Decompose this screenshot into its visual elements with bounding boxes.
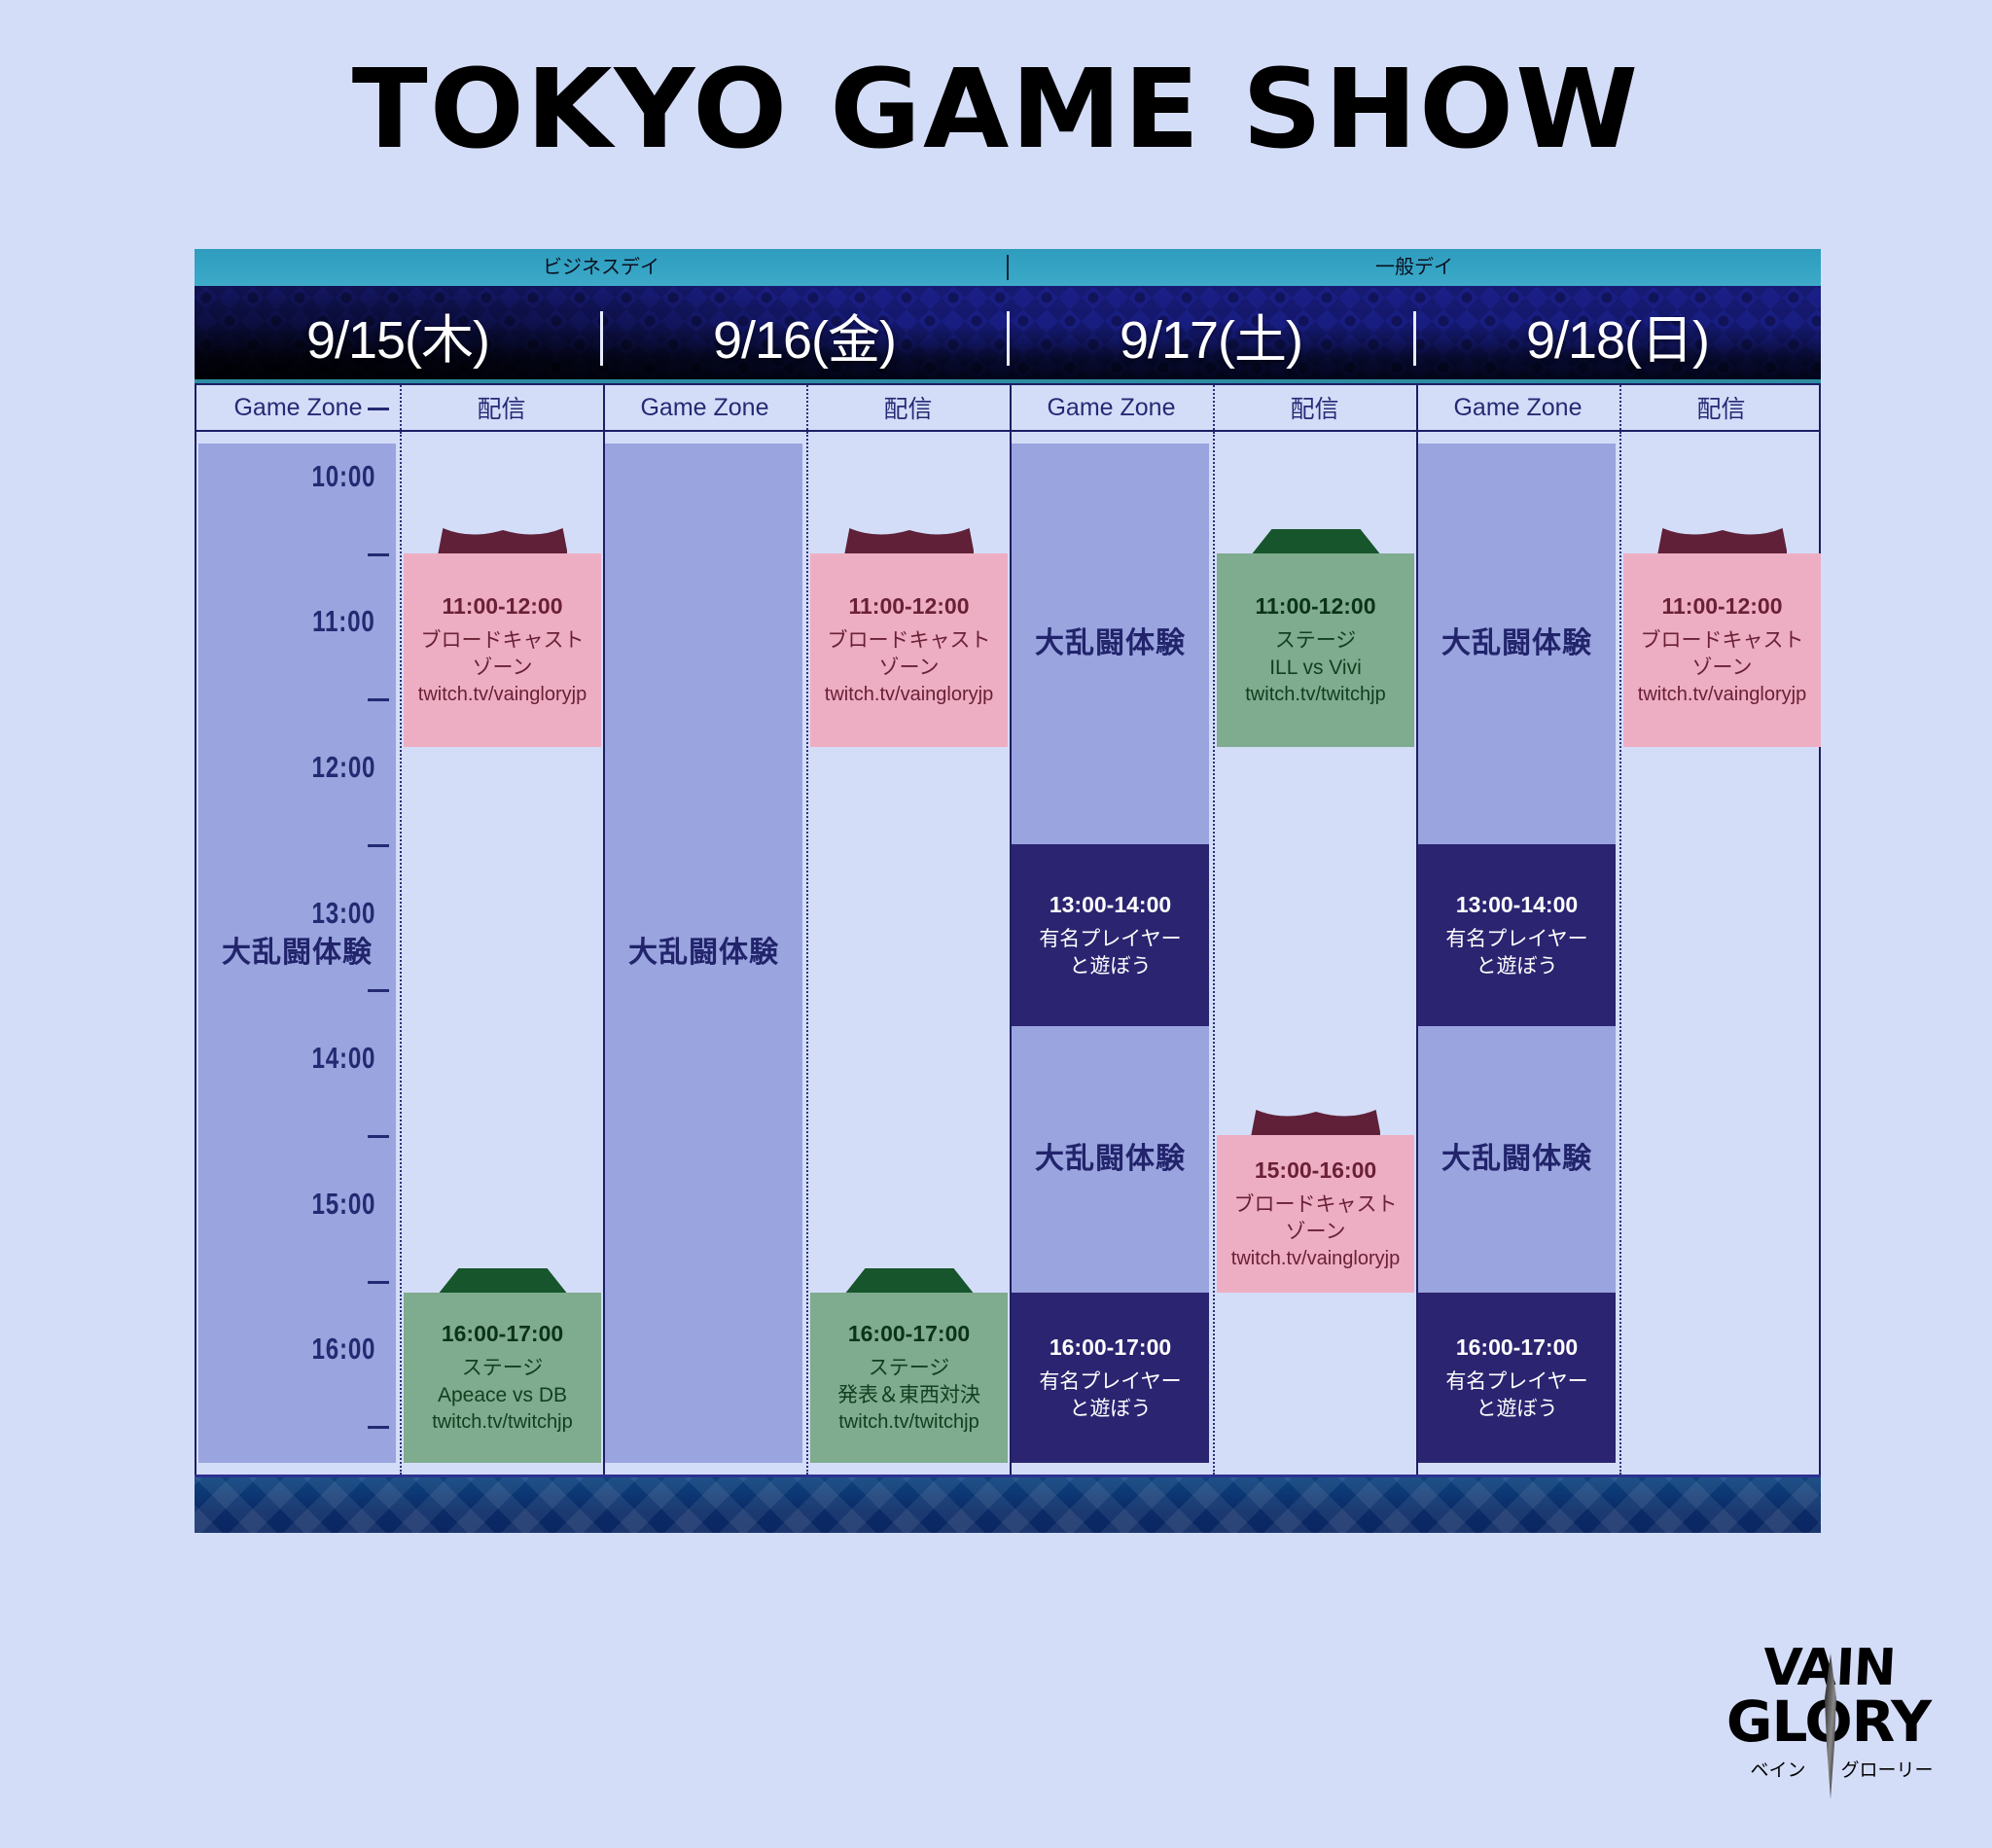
event-body: 16:00-17:00ステージ発表＆東西対決twitch.tv/twitchjp [810, 1293, 1008, 1463]
event-body: 11:00-12:00ステージILL vs Vivitwitch.tv/twit… [1217, 553, 1414, 747]
footer-band [195, 1475, 1821, 1533]
event-time: 11:00-12:00 [442, 591, 562, 622]
time-axis: 10:0011:0012:0013:0014:0015:0016:00 [195, 249, 389, 1533]
event-body: 13:00-14:00有名プレイヤーと遊ぼう [1418, 844, 1616, 1026]
event-detail-line-1: 発表＆東西対決 [837, 1382, 980, 1409]
event-title: 大乱闘体験 [1441, 1140, 1592, 1179]
event-block-d4-gz-1[interactable]: 大乱闘体験 [1418, 444, 1616, 843]
column-divider-1 [400, 385, 402, 430]
event-detail-line-0: ステージ [869, 1355, 950, 1382]
vainglory-logo: VAIN GLORY ベイン グローリー [1710, 1640, 1953, 1813]
column-divider-5 [1213, 385, 1215, 430]
event-block-d4-gz-2[interactable]: 13:00-14:00有名プレイヤーと遊ぼう [1418, 844, 1616, 1026]
time-tick-1 [368, 698, 389, 701]
event-time: 11:00-12:00 [1661, 591, 1782, 622]
event-body: 大乱闘体験 [1418, 444, 1616, 843]
event-stream-url[interactable]: twitch.tv/vaingloryjp [825, 682, 993, 708]
grid-vline-5 [1213, 432, 1215, 1475]
event-title: 大乱闘体験 [1035, 1140, 1186, 1179]
broadcast-banner-icon [1657, 526, 1788, 555]
event-block-d3-gz-2[interactable]: 13:00-14:00有名プレイヤーと遊ぼう [1012, 844, 1209, 1026]
event-block-d4-gz-3[interactable]: 大乱闘体験 [1418, 1026, 1616, 1293]
time-tick-2 [368, 844, 389, 847]
event-body: 13:00-14:00有名プレイヤーと遊ぼう [1012, 844, 1209, 1026]
date-header-day2: 9/16(金) [601, 286, 1008, 383]
event-detail-line-1: と遊ぼう [1070, 953, 1152, 980]
event-title: 大乱闘体験 [1035, 624, 1186, 663]
event-body: 大乱闘体験 [1012, 1026, 1209, 1293]
event-detail-line-1: ゾーン [1692, 655, 1753, 682]
event-time: 13:00-14:00 [1456, 890, 1578, 920]
column-header-game-zone-day4: Game Zone [1416, 385, 1619, 430]
event-detail-line-1: と遊ぼう [1070, 1396, 1152, 1423]
time-tick-top [368, 408, 389, 410]
event-block-d1-br-1[interactable]: 11:00-12:00ブロードキャストゾーンtwitch.tv/vainglor… [404, 553, 601, 747]
stage-roof-icon [1251, 526, 1381, 555]
event-block-d3-br-2[interactable]: 15:00-16:00ブロードキャストゾーンtwitch.tv/vainglor… [1217, 1135, 1414, 1293]
event-block-d3-gz-3[interactable]: 大乱闘体験 [1012, 1026, 1209, 1293]
event-detail-line-0: ブロードキャスト [828, 627, 991, 655]
column-divider-6 [1416, 385, 1418, 430]
event-body: 16:00-17:00有名プレイヤーと遊ぼう [1012, 1293, 1209, 1463]
event-detail-line-1: ゾーン [473, 655, 533, 682]
event-time: 16:00-17:00 [442, 1319, 563, 1349]
event-body: 16:00-17:00有名プレイヤーと遊ぼう [1418, 1293, 1616, 1463]
event-detail-line-0: 有名プレイヤー [1445, 926, 1587, 953]
event-body: 11:00-12:00ブロードキャストゾーンtwitch.tv/vainglor… [1623, 553, 1821, 747]
time-label-1600: 16:00 [311, 1332, 375, 1367]
broadcast-banner-icon [844, 526, 975, 555]
column-header-broadcast-day2: 配信 [806, 385, 1010, 430]
event-time: 15:00-16:00 [1255, 1155, 1376, 1186]
event-detail-line-0: ブロードキャスト [1641, 627, 1804, 655]
event-block-d3-gz-1[interactable]: 大乱闘体験 [1012, 444, 1209, 843]
grid-vline-1 [400, 432, 402, 1475]
event-time: 16:00-17:00 [1456, 1333, 1578, 1363]
event-stream-url[interactable]: twitch.tv/vaingloryjp [418, 682, 587, 708]
day-type-general-label: 一般デイ [1008, 249, 1821, 286]
event-detail-line-0: 有名プレイヤー [1445, 1368, 1587, 1396]
time-label-1300: 13:00 [311, 896, 375, 931]
schedule-chart: ビジネスデイ 一般デイ 9/15(木) 9/16(金) 9/17(土) 9/18… [195, 249, 1821, 1533]
date-band: 9/15(木) 9/16(金) 9/17(土) 9/18(日) [195, 286, 1821, 383]
event-body: 11:00-12:00ブロードキャストゾーンtwitch.tv/vainglor… [810, 553, 1008, 747]
date-header-day3: 9/17(土) [1008, 286, 1414, 383]
grid-vline-3 [806, 432, 808, 1475]
event-body: 大乱闘体験 [605, 444, 802, 1462]
date-header-day4: 9/18(日) [1414, 286, 1821, 383]
column-header-game-zone-day3: Game Zone [1010, 385, 1213, 430]
event-block-d2-br-1[interactable]: 11:00-12:00ブロードキャストゾーンtwitch.tv/vainglor… [810, 553, 1008, 747]
stage-roof-icon [438, 1265, 568, 1295]
event-body: 15:00-16:00ブロードキャストゾーンtwitch.tv/vainglor… [1217, 1135, 1414, 1293]
event-body: 16:00-17:00ステージApeace vs DBtwitch.tv/twi… [404, 1293, 601, 1463]
event-block-d4-br-1[interactable]: 11:00-12:00ブロードキャストゾーンtwitch.tv/vainglor… [1623, 553, 1821, 747]
event-detail-line-1: と遊ぼう [1476, 953, 1558, 980]
footer-pattern [195, 1475, 1821, 1533]
schedule-grid: 大乱闘体験 11:00-12:00ブロードキャストゾーンtwitch.tv/va… [195, 432, 1821, 1475]
event-title: 大乱闘体験 [628, 934, 779, 973]
event-body: 11:00-12:00ブロードキャストゾーンtwitch.tv/vainglor… [404, 553, 601, 747]
event-detail-line-1: ゾーン [879, 655, 940, 682]
event-block-d3-br-1[interactable]: 11:00-12:00ステージILL vs Vivitwitch.tv/twit… [1217, 553, 1414, 747]
event-body: 大乱闘体験 [1418, 1026, 1616, 1293]
event-stream-url[interactable]: twitch.tv/vaingloryjp [1638, 682, 1806, 708]
column-header-broadcast-day4: 配信 [1619, 385, 1823, 430]
broadcast-banner-icon [438, 526, 568, 555]
day-type-band: ビジネスデイ 一般デイ [195, 249, 1821, 286]
column-header-broadcast-day3: 配信 [1213, 385, 1416, 430]
event-detail-line-0: ステージ [462, 1355, 544, 1382]
event-stream-url[interactable]: twitch.tv/vaingloryjp [1231, 1246, 1400, 1272]
time-label-1000: 10:00 [311, 459, 375, 494]
event-detail-line-0: 有名プレイヤー [1039, 926, 1181, 953]
time-tick-4 [368, 1135, 389, 1138]
event-block-d2-br-2[interactable]: 16:00-17:00ステージ発表＆東西対決twitch.tv/twitchjp [810, 1293, 1008, 1463]
time-label-1500: 15:00 [311, 1187, 375, 1222]
column-header-broadcast-day1: 配信 [400, 385, 603, 430]
column-divider-3 [806, 385, 808, 430]
event-detail-line-0: 有名プレイヤー [1039, 1368, 1181, 1396]
event-time: 11:00-12:00 [1255, 591, 1375, 622]
logo-subtitle-right-text: グローリー [1840, 1759, 1933, 1781]
event-block-d4-gz-4[interactable]: 16:00-17:00有名プレイヤーと遊ぼう [1418, 1293, 1616, 1463]
event-detail-line-1: ILL vs Vivi [1269, 655, 1362, 682]
column-header-row: Game Zone配信Game Zone配信Game Zone配信Game Zo… [195, 383, 1821, 432]
time-label-1100: 11:00 [313, 604, 375, 639]
time-tick-6 [368, 1426, 389, 1429]
event-time: 13:00-14:00 [1049, 890, 1171, 920]
event-detail-line-1: Apeace vs DB [438, 1382, 567, 1409]
time-tick-0 [368, 553, 389, 556]
column-header-game-zone-day2: Game Zone [603, 385, 806, 430]
time-tick-3 [368, 989, 389, 992]
event-detail-line-0: ステージ [1275, 627, 1357, 655]
event-time: 16:00-17:00 [1049, 1333, 1171, 1363]
time-label-1400: 14:00 [311, 1041, 375, 1076]
logo-subtitle-left-text: ベイン [1750, 1759, 1805, 1781]
event-block-d1-br-2[interactable]: 16:00-17:00ステージApeace vs DBtwitch.tv/twi… [404, 1293, 601, 1463]
event-stream-url[interactable]: twitch.tv/twitchjp [838, 1409, 978, 1436]
event-detail-line-1: と遊ぼう [1476, 1396, 1558, 1423]
event-body: 大乱闘体験 [1012, 444, 1209, 843]
column-divider-7 [1619, 385, 1621, 430]
event-block-d2-gz-1[interactable]: 大乱闘体験 [605, 444, 802, 1462]
event-time: 11:00-12:00 [848, 591, 969, 622]
event-block-d3-gz-4[interactable]: 16:00-17:00有名プレイヤーと遊ぼう [1012, 1293, 1209, 1463]
page-title: TOKYO GAME SHOW [0, 47, 1992, 173]
event-title: 大乱闘体験 [1441, 624, 1592, 663]
stage-roof-icon [844, 1265, 975, 1295]
event-time: 16:00-17:00 [848, 1319, 970, 1349]
time-label-1200: 12:00 [311, 750, 375, 785]
event-detail-line-1: ゾーン [1286, 1219, 1346, 1246]
event-detail-line-0: ブロードキャスト [421, 627, 585, 655]
broadcast-banner-icon [1251, 1108, 1381, 1137]
time-tick-5 [368, 1281, 389, 1284]
event-stream-url[interactable]: twitch.tv/twitchjp [1245, 682, 1385, 708]
grid-vline-7 [1619, 432, 1621, 1475]
event-detail-line-0: ブロードキャスト [1234, 1191, 1398, 1219]
column-divider-4 [1010, 385, 1012, 430]
event-stream-url[interactable]: twitch.tv/twitchjp [432, 1409, 572, 1436]
column-divider-2 [603, 385, 605, 430]
